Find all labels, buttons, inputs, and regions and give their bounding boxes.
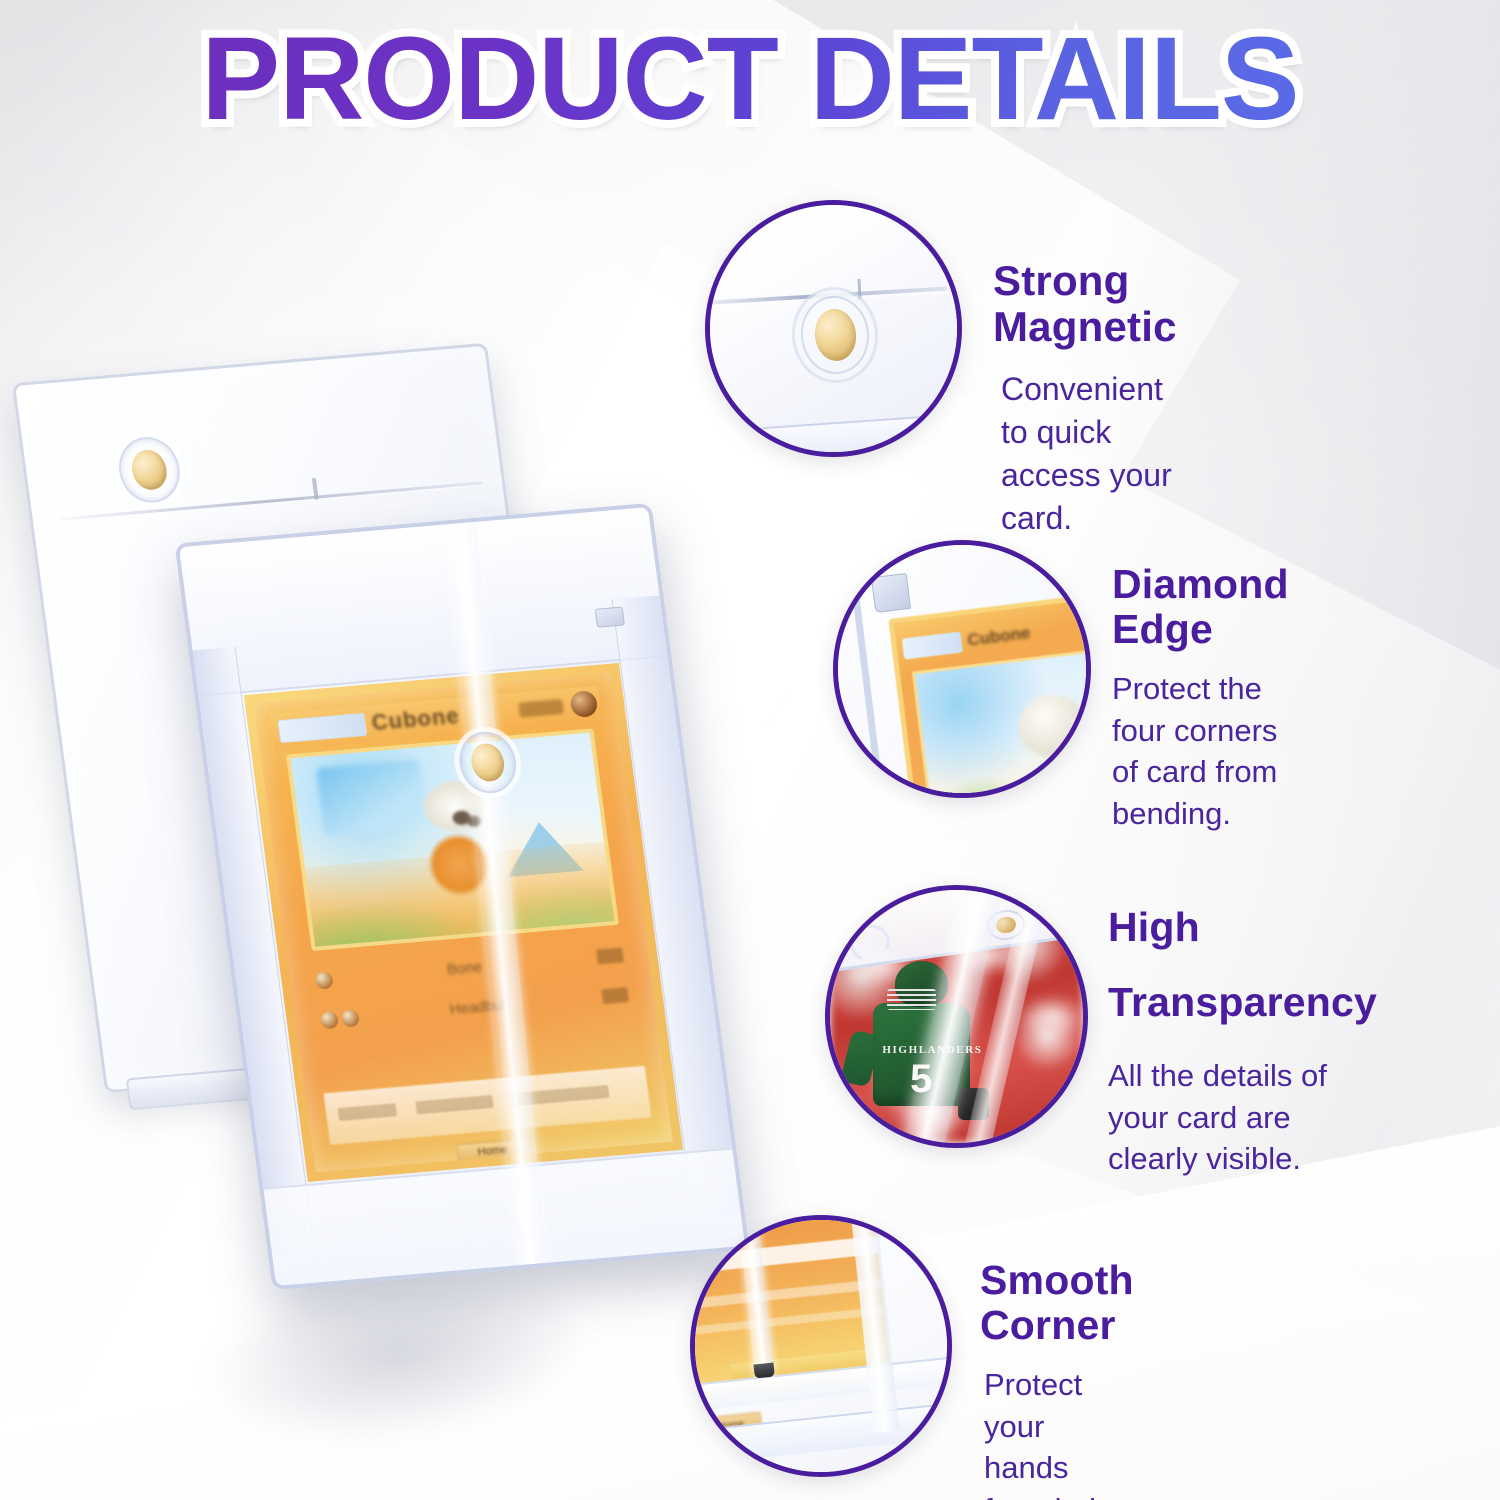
move-damage — [601, 987, 629, 1004]
callout-corner-closeup: Cubone — [833, 540, 1091, 798]
trading-card: Cubone — [243, 663, 682, 1183]
page-title-fill: PRODUCT DETAILS — [201, 13, 1298, 145]
feature-text-smooth-corner: Smooth Corner Protect your hands from be… — [980, 1258, 1134, 1500]
move-name: Bone — [341, 950, 587, 988]
move-damage — [596, 947, 624, 964]
card-artwork — [286, 729, 619, 951]
move-name: Headbutt — [367, 989, 593, 1025]
holder-corner-tab — [595, 606, 625, 627]
card-type-pill — [277, 713, 367, 744]
closeup-ground — [935, 753, 1046, 798]
closeup-case-shelf-lower — [690, 1401, 952, 1467]
product-details-infographic: PRODUCT DETAILS PRODUCT DETAILS — [0, 0, 1500, 1500]
feature-body: All the details of your card are clearly… — [1108, 1055, 1377, 1180]
closeup-card-type-pill — [902, 631, 963, 659]
feature-title-line1: High — [1108, 905, 1377, 950]
closeup-trading-card: Cubone — [889, 592, 1091, 798]
move-energy-cost — [320, 1009, 360, 1029]
feature-body: Protect the four corners of card from be… — [1112, 668, 1289, 834]
feature-title: Diamond Edge — [1112, 562, 1289, 652]
feature-text-diamond-edge: Diamond Edge Protect the four corners of… — [1112, 562, 1289, 834]
callout-magnet-closeup — [705, 200, 962, 457]
card-move-row: Bone — [314, 946, 623, 989]
player-facemask — [887, 989, 936, 1010]
feature-title: Strong Magnetic — [993, 258, 1177, 350]
callout-football-card-closeup: HIGHLANDERS 5 — [825, 885, 1088, 1148]
closeup-notch — [858, 279, 862, 299]
magnet-icon — [797, 293, 873, 378]
move-energy-cost — [314, 971, 333, 989]
card-name: Cubone — [370, 703, 461, 736]
feature-title: Smooth Corner — [980, 1258, 1134, 1348]
closeup-card-name: Cubone — [967, 623, 1032, 651]
product-photo: Cubone — [18, 355, 738, 1345]
card-move-row: Headbutt — [320, 986, 629, 1029]
closeup-card-artwork — [913, 649, 1091, 798]
feature-title-line2: Transparency — [1108, 980, 1377, 1025]
magnet-core — [812, 307, 858, 363]
page-title: PRODUCT DETAILS PRODUCT DETAILS — [0, 16, 1500, 143]
feature-body: Convenient to quick access your card. — [1001, 368, 1177, 540]
closeup-creature — [1016, 691, 1090, 761]
feature-text-high-transparency: High Transparency All the details of you… — [1108, 905, 1377, 1180]
artwork-creature — [384, 769, 540, 920]
card-hp-value — [518, 699, 564, 718]
feature-body: Protect your hands from being scartched. — [984, 1364, 1134, 1500]
energy-type-icon — [569, 690, 598, 718]
diamond-edge-bevel — [871, 573, 911, 613]
feature-text-strong-magnetic: Strong Magnetic Convenient to quick acce… — [993, 258, 1177, 540]
card-holder-front: Cubone — [174, 503, 749, 1290]
closeup-base-bar — [758, 413, 962, 457]
callout-smooth-corner-closeup: Home — [690, 1215, 952, 1477]
